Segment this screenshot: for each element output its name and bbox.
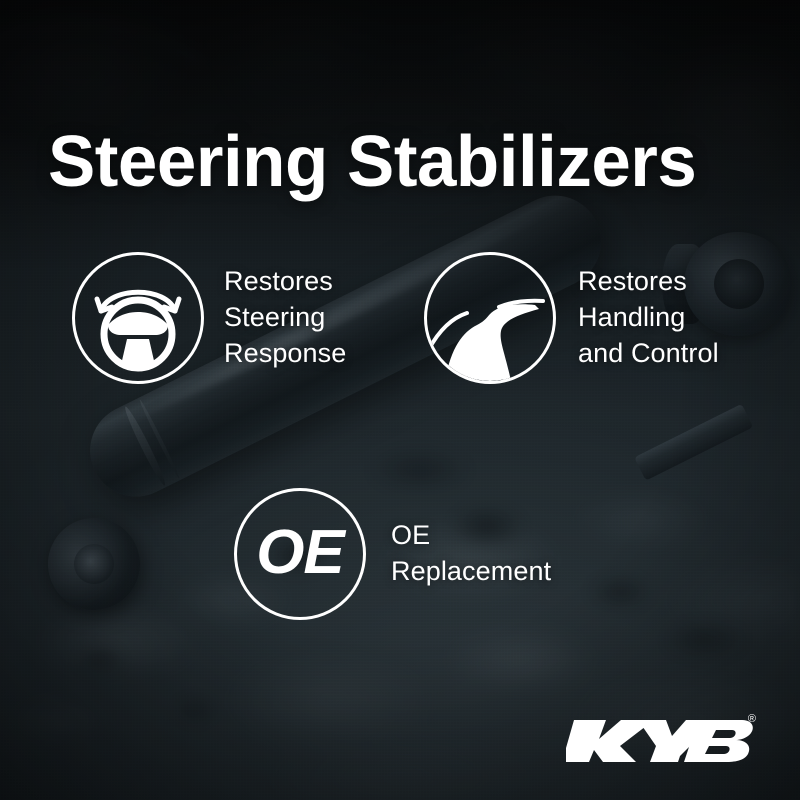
steering-wheel-badge [72,252,204,384]
promo-graphic: Steering Stabilizers Restores Steering R… [0,0,800,800]
feature-label: OE Replacement [391,518,551,590]
kyb-wordmark-icon [566,712,756,770]
oe-badge-icon: OE [234,488,366,620]
oe-badge-text: OE [256,522,344,584]
feature-restores-steering-response: Restores Steering Response [72,252,346,384]
kyb-logo: ® [566,712,756,770]
page-title: Steering Stabilizers [48,126,753,198]
steering-wheel-icon [75,255,201,381]
feature-label: Restores Handling and Control [578,264,719,372]
winding-road-badge [424,252,556,384]
feature-oe-replacement: OE OE Replacement [234,488,551,620]
winding-road-icon [427,255,553,381]
content-layer: Steering Stabilizers Restores Steering R… [0,0,800,800]
registered-trademark-symbol: ® [748,714,756,725]
feature-label: Restores Steering Response [224,264,346,372]
feature-restores-handling-and-control: Restores Handling and Control [424,252,719,384]
